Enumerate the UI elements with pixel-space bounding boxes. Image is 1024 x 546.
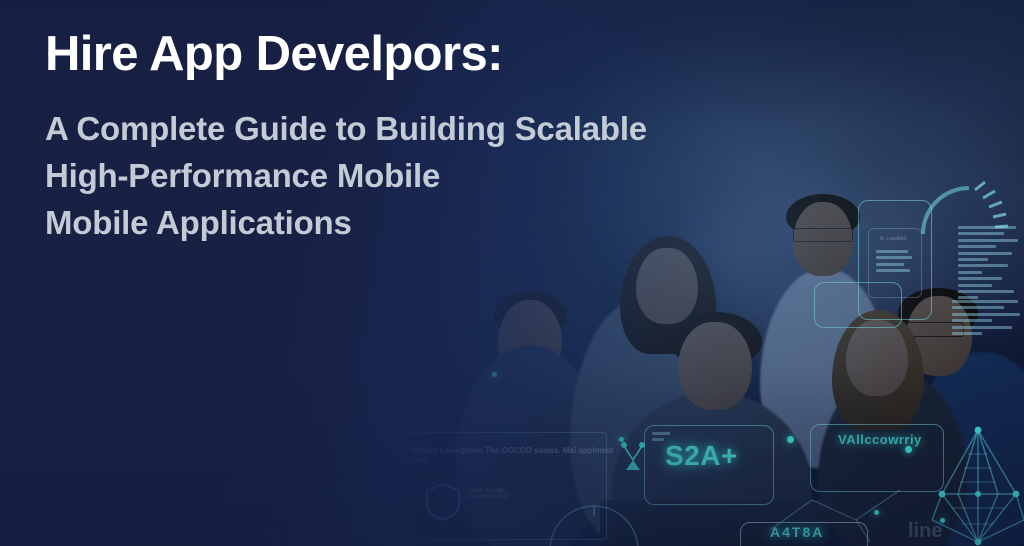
- hero-banner: lit. Lsasified S2A+ VAllccowrriy A4T8A P…: [0, 0, 1024, 546]
- subtitle-line-1: A Complete Guide to Building Scalable: [45, 106, 805, 153]
- subtitle-line-3: Mobile Applications: [45, 200, 805, 247]
- subtitle-line-2: High-Performance Mobile: [45, 153, 805, 200]
- bottom-gradient-scrim: [0, 366, 1024, 546]
- page-title: Hire App Develpors:: [45, 30, 805, 79]
- headline-block: Hire App Develpors: A Complete Guide to …: [45, 30, 805, 247]
